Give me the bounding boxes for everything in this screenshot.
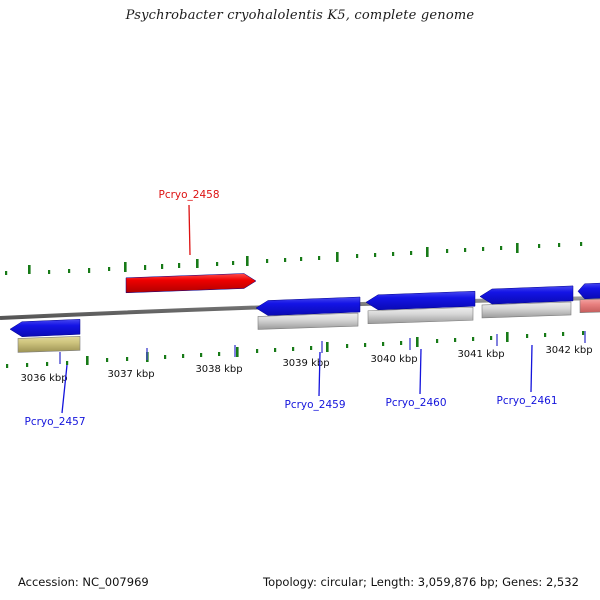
gene-label-pcryo_2461[interactable]: Pcryo_2461 <box>496 395 557 407</box>
rna-tick <box>6 364 8 368</box>
rna-tick <box>232 261 234 265</box>
rna-tick <box>426 247 429 257</box>
gene-arrow-2461[interactable] <box>480 286 573 304</box>
topology-text: Topology: circular; Length: 3,059,876 bp… <box>263 575 579 589</box>
cds-box-2462[interactable] <box>580 299 600 313</box>
rna-tick <box>246 256 249 266</box>
rna-tick <box>326 342 329 352</box>
rna-tick <box>472 337 474 341</box>
rna-tick <box>161 264 163 269</box>
rna-tick <box>196 259 199 268</box>
status-bar: Accession: NC_007969 Topology: circular;… <box>0 572 600 596</box>
gene-label-pcryo_2458[interactable]: Pcryo_2458 <box>158 189 219 201</box>
rna-tick <box>356 254 358 258</box>
rna-tick <box>538 244 540 248</box>
rna-tick <box>266 259 268 263</box>
rna-tick <box>580 242 582 246</box>
rna-tick <box>490 336 492 340</box>
rna-tick <box>300 257 302 261</box>
rna-tick <box>336 252 339 262</box>
rna-tick <box>400 341 402 345</box>
rna-tick <box>144 265 146 270</box>
rna-tick <box>562 332 564 336</box>
rna-tick <box>526 334 528 338</box>
rna-tick <box>178 263 180 268</box>
rna-tick <box>88 268 90 273</box>
gene-arrow-2457[interactable] <box>10 319 80 336</box>
rna-tick <box>108 267 110 271</box>
rna-tick <box>446 249 448 253</box>
rna-tick <box>48 270 50 274</box>
rna-tick <box>256 349 258 353</box>
rna-tick <box>374 253 376 257</box>
rna-tick <box>236 347 239 357</box>
rna-tick <box>26 363 28 367</box>
rna-tick <box>284 258 286 262</box>
rna-tick <box>182 354 184 358</box>
rna-tick <box>218 352 220 356</box>
gene-label-pcryo_2457[interactable]: Pcryo_2457 <box>24 416 85 428</box>
rna-tick <box>516 243 519 253</box>
rna-tick <box>164 355 166 359</box>
ruler-label: 3041 kbp <box>457 349 504 360</box>
rna-tick <box>558 243 560 247</box>
rna-tick <box>216 262 218 266</box>
cds-box-2461[interactable] <box>482 302 571 318</box>
rna-tick <box>436 339 438 343</box>
rna-tick <box>292 347 294 351</box>
rna-tick <box>86 356 89 365</box>
rna-tick <box>126 357 128 361</box>
rna-tick <box>5 271 7 275</box>
genome-viewer: Psychrobacter cryohalolentis K5, complet… <box>0 0 600 600</box>
genome-graphic-canvas[interactable]: 3036 kbp3037 kbp3038 kbp3039 kbp3040 kbp… <box>0 0 600 560</box>
rna-tick <box>106 358 108 362</box>
rna-tick <box>68 269 70 273</box>
rna-tick <box>464 248 466 252</box>
rna-tick-track-upper <box>5 242 582 275</box>
rna-tick <box>544 333 546 337</box>
gene-arrow-2458[interactable] <box>126 274 256 293</box>
rna-tick <box>274 348 276 352</box>
rna-tick <box>410 251 412 255</box>
ruler-label: 3038 kbp <box>195 364 242 375</box>
rna-tick <box>124 262 127 272</box>
rna-tick <box>582 331 584 335</box>
gene-label-pcryo_2460[interactable]: Pcryo_2460 <box>385 397 446 409</box>
accession-text: Accession: NC_007969 <box>18 575 149 589</box>
ruler-label: 3040 kbp <box>370 354 417 365</box>
rna-tick <box>392 252 394 256</box>
rna-tick <box>28 265 31 274</box>
rna-tick <box>382 342 384 346</box>
rna-tick <box>310 346 312 350</box>
gene-arrow-2460[interactable] <box>366 291 475 310</box>
ruler-label: 3037 kbp <box>107 369 154 380</box>
gene-label-pcryo_2459[interactable]: Pcryo_2459 <box>284 399 345 411</box>
rna-tick <box>482 247 484 251</box>
rna-tick <box>66 361 68 365</box>
rna-tick <box>200 353 202 357</box>
ruler-label: 3036 kbp <box>20 373 67 384</box>
rna-tick <box>346 344 348 348</box>
rna-tick <box>318 256 320 260</box>
ruler-label: 3039 kbp <box>282 358 329 369</box>
rna-tick <box>46 362 48 366</box>
rna-tick <box>500 246 502 250</box>
rna-tick <box>416 337 419 347</box>
ruler-label: 3042 kbp <box>545 345 592 356</box>
gene-arrow-2459[interactable] <box>256 297 360 316</box>
rna-tick <box>454 338 456 342</box>
rna-tick <box>364 343 366 347</box>
rna-tick <box>506 332 509 342</box>
cds-box-2457[interactable] <box>18 336 80 352</box>
gene-label-leader-line <box>189 205 190 255</box>
ruler-label-layer: 3036 kbp3037 kbp3038 kbp3039 kbp3040 kbp… <box>20 345 592 384</box>
gene-label-leader-line <box>531 345 532 392</box>
gene-label-leader-line <box>420 349 421 394</box>
